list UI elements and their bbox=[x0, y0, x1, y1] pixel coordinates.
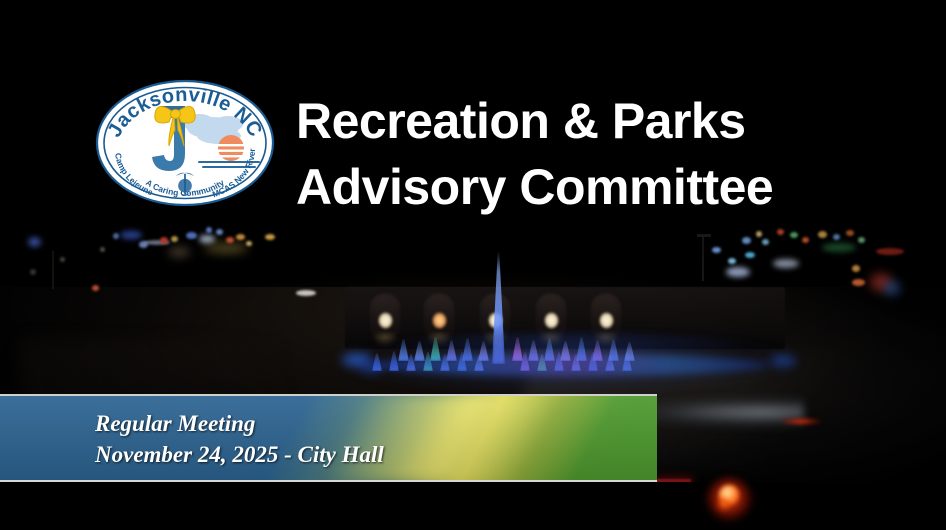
street-light bbox=[745, 252, 755, 258]
banner-text-block: Regular Meeting November 24, 2025 - City… bbox=[95, 408, 384, 470]
street-light bbox=[216, 229, 223, 235]
lower-third-banner: Regular Meeting November 24, 2025 - City… bbox=[0, 394, 657, 482]
street-light bbox=[168, 248, 190, 256]
traffic-light bbox=[790, 232, 798, 238]
street-light bbox=[833, 234, 840, 240]
sign-panel bbox=[296, 290, 316, 296]
alcove-lamp bbox=[544, 312, 559, 329]
alcove-lamp bbox=[432, 312, 447, 329]
holiday-light-cluster bbox=[884, 281, 900, 295]
taillights bbox=[876, 248, 904, 255]
lamp-post bbox=[52, 251, 54, 289]
alcove-lamp bbox=[599, 312, 614, 329]
fountain-alcove bbox=[422, 292, 456, 336]
street-light bbox=[246, 241, 252, 246]
pool-light bbox=[360, 363, 382, 373]
fountain-alcove bbox=[368, 292, 402, 336]
street-light bbox=[92, 285, 99, 291]
lamp-post bbox=[702, 235, 704, 281]
traffic-light bbox=[160, 237, 168, 244]
fountain-alcove bbox=[589, 292, 623, 336]
red-station-logo-watermark bbox=[705, 477, 753, 523]
street-light bbox=[186, 232, 197, 239]
bottom-black-strip bbox=[0, 482, 946, 530]
headlight bbox=[726, 267, 750, 277]
street-light bbox=[858, 237, 865, 243]
street-light bbox=[802, 237, 809, 243]
program-title-line-2: Advisory Committee bbox=[296, 154, 896, 220]
street-light bbox=[120, 231, 142, 239]
holiday-light-string bbox=[822, 243, 856, 252]
fountain-alcove bbox=[534, 292, 568, 336]
street-light bbox=[113, 233, 119, 239]
program-title-line-1: Recreation & Parks bbox=[296, 88, 896, 154]
street-light bbox=[206, 227, 212, 233]
watermark-tail bbox=[716, 499, 730, 512]
street-light bbox=[756, 231, 762, 237]
traffic-light bbox=[171, 236, 178, 242]
street-light bbox=[846, 230, 854, 236]
street-light bbox=[28, 237, 41, 247]
broadcast-frame: FIRST BANK bbox=[0, 0, 946, 530]
street-light bbox=[762, 239, 769, 245]
street-light bbox=[100, 247, 105, 252]
street-light bbox=[712, 247, 721, 253]
street-light bbox=[236, 234, 245, 240]
street-light bbox=[742, 237, 751, 244]
street-light bbox=[30, 269, 36, 275]
lamp-arm bbox=[697, 234, 711, 237]
banner-line-2: November 24, 2025 - City Hall bbox=[95, 439, 384, 470]
fountain-water-reflection bbox=[330, 368, 800, 394]
headlight bbox=[773, 259, 799, 268]
street-light bbox=[818, 231, 827, 238]
street-light bbox=[728, 258, 736, 264]
banner-line-1: Regular Meeting bbox=[95, 408, 384, 439]
traffic-light bbox=[777, 229, 784, 235]
street-light bbox=[852, 279, 865, 286]
street-light bbox=[265, 234, 275, 240]
title-header: Jacksonville NC Camp Lejeune MCAS New Ri… bbox=[0, 0, 946, 213]
sign-glow bbox=[204, 243, 248, 253]
street-light bbox=[60, 257, 65, 262]
headlight bbox=[199, 235, 215, 243]
jacksonville-nc-seal-logo: Jacksonville NC Camp Lejeune MCAS New Ri… bbox=[91, 78, 279, 209]
street-light bbox=[852, 265, 860, 272]
car-taillight bbox=[780, 417, 822, 426]
alcove-lamp bbox=[378, 312, 393, 329]
page-title: Recreation & Parks Advisory Committee bbox=[296, 88, 896, 220]
pool-light bbox=[770, 355, 796, 367]
